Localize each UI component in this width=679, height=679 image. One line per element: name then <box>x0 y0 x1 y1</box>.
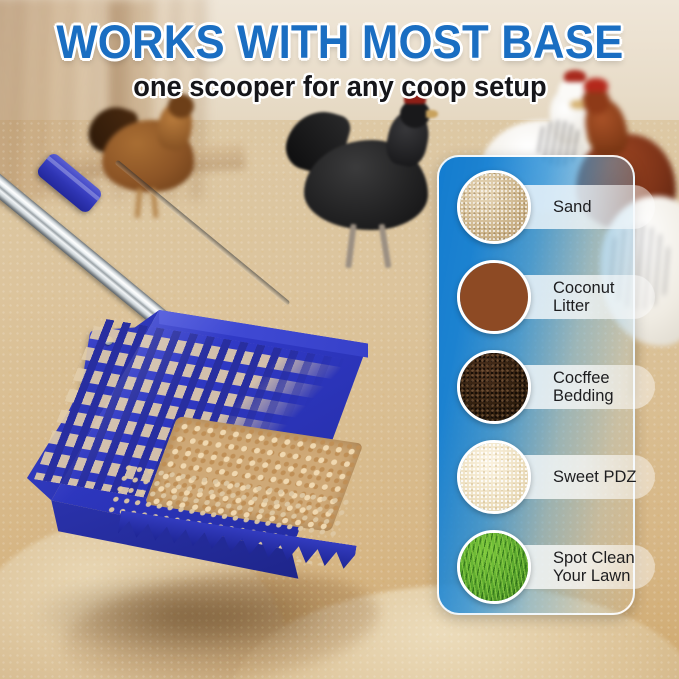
base-type-label: Spot CleanYour Lawn <box>553 549 635 586</box>
base-type-label: Sand <box>553 198 592 216</box>
lawn-texture <box>460 533 528 601</box>
product-marketing-image: WORKS WITH MOST BASE one scooper for any… <box>0 0 679 679</box>
coconut-litter-swatch-icon <box>457 260 531 334</box>
handle-grip <box>35 151 104 215</box>
handle-seam-line <box>114 160 290 306</box>
base-type-label: CoconutLitter <box>553 279 614 316</box>
base-type-row-sweet-pdz[interactable]: Sweet PDZ <box>439 435 637 519</box>
lawn-swatch-icon <box>457 530 531 604</box>
base-type-row-spot-clean-lawn[interactable]: Spot CleanYour Lawn <box>439 525 637 609</box>
page-title: WORKS WITH MOST BASE <box>56 18 623 65</box>
sweet-pdz-swatch-icon <box>457 440 531 514</box>
sand-swatch-icon <box>457 170 531 244</box>
base-type-row-coconut-litter[interactable]: CoconutLitter <box>439 255 637 339</box>
coop-scooper-product <box>0 140 400 640</box>
base-types-panel: Sand CoconutLitter CocffeeBedding <box>437 155 635 615</box>
hen-beak <box>426 110 438 118</box>
headline-block: WORKS WITH MOST BASE one scooper for any… <box>0 18 679 104</box>
coffee-bedding-texture <box>460 353 528 421</box>
sand-texture <box>460 173 528 241</box>
coffee-bedding-swatch-icon <box>457 350 531 424</box>
sweet-pdz-texture <box>460 443 528 511</box>
base-type-label: Sweet PDZ <box>553 468 636 486</box>
page-subtitle: one scooper for any coop setup <box>133 71 547 104</box>
base-type-row-sand[interactable]: Sand <box>439 165 637 249</box>
base-type-row-coffee-bedding[interactable]: CocffeeBedding <box>439 345 637 429</box>
base-type-label: CocffeeBedding <box>553 369 614 406</box>
coconut-litter-texture <box>460 263 528 331</box>
